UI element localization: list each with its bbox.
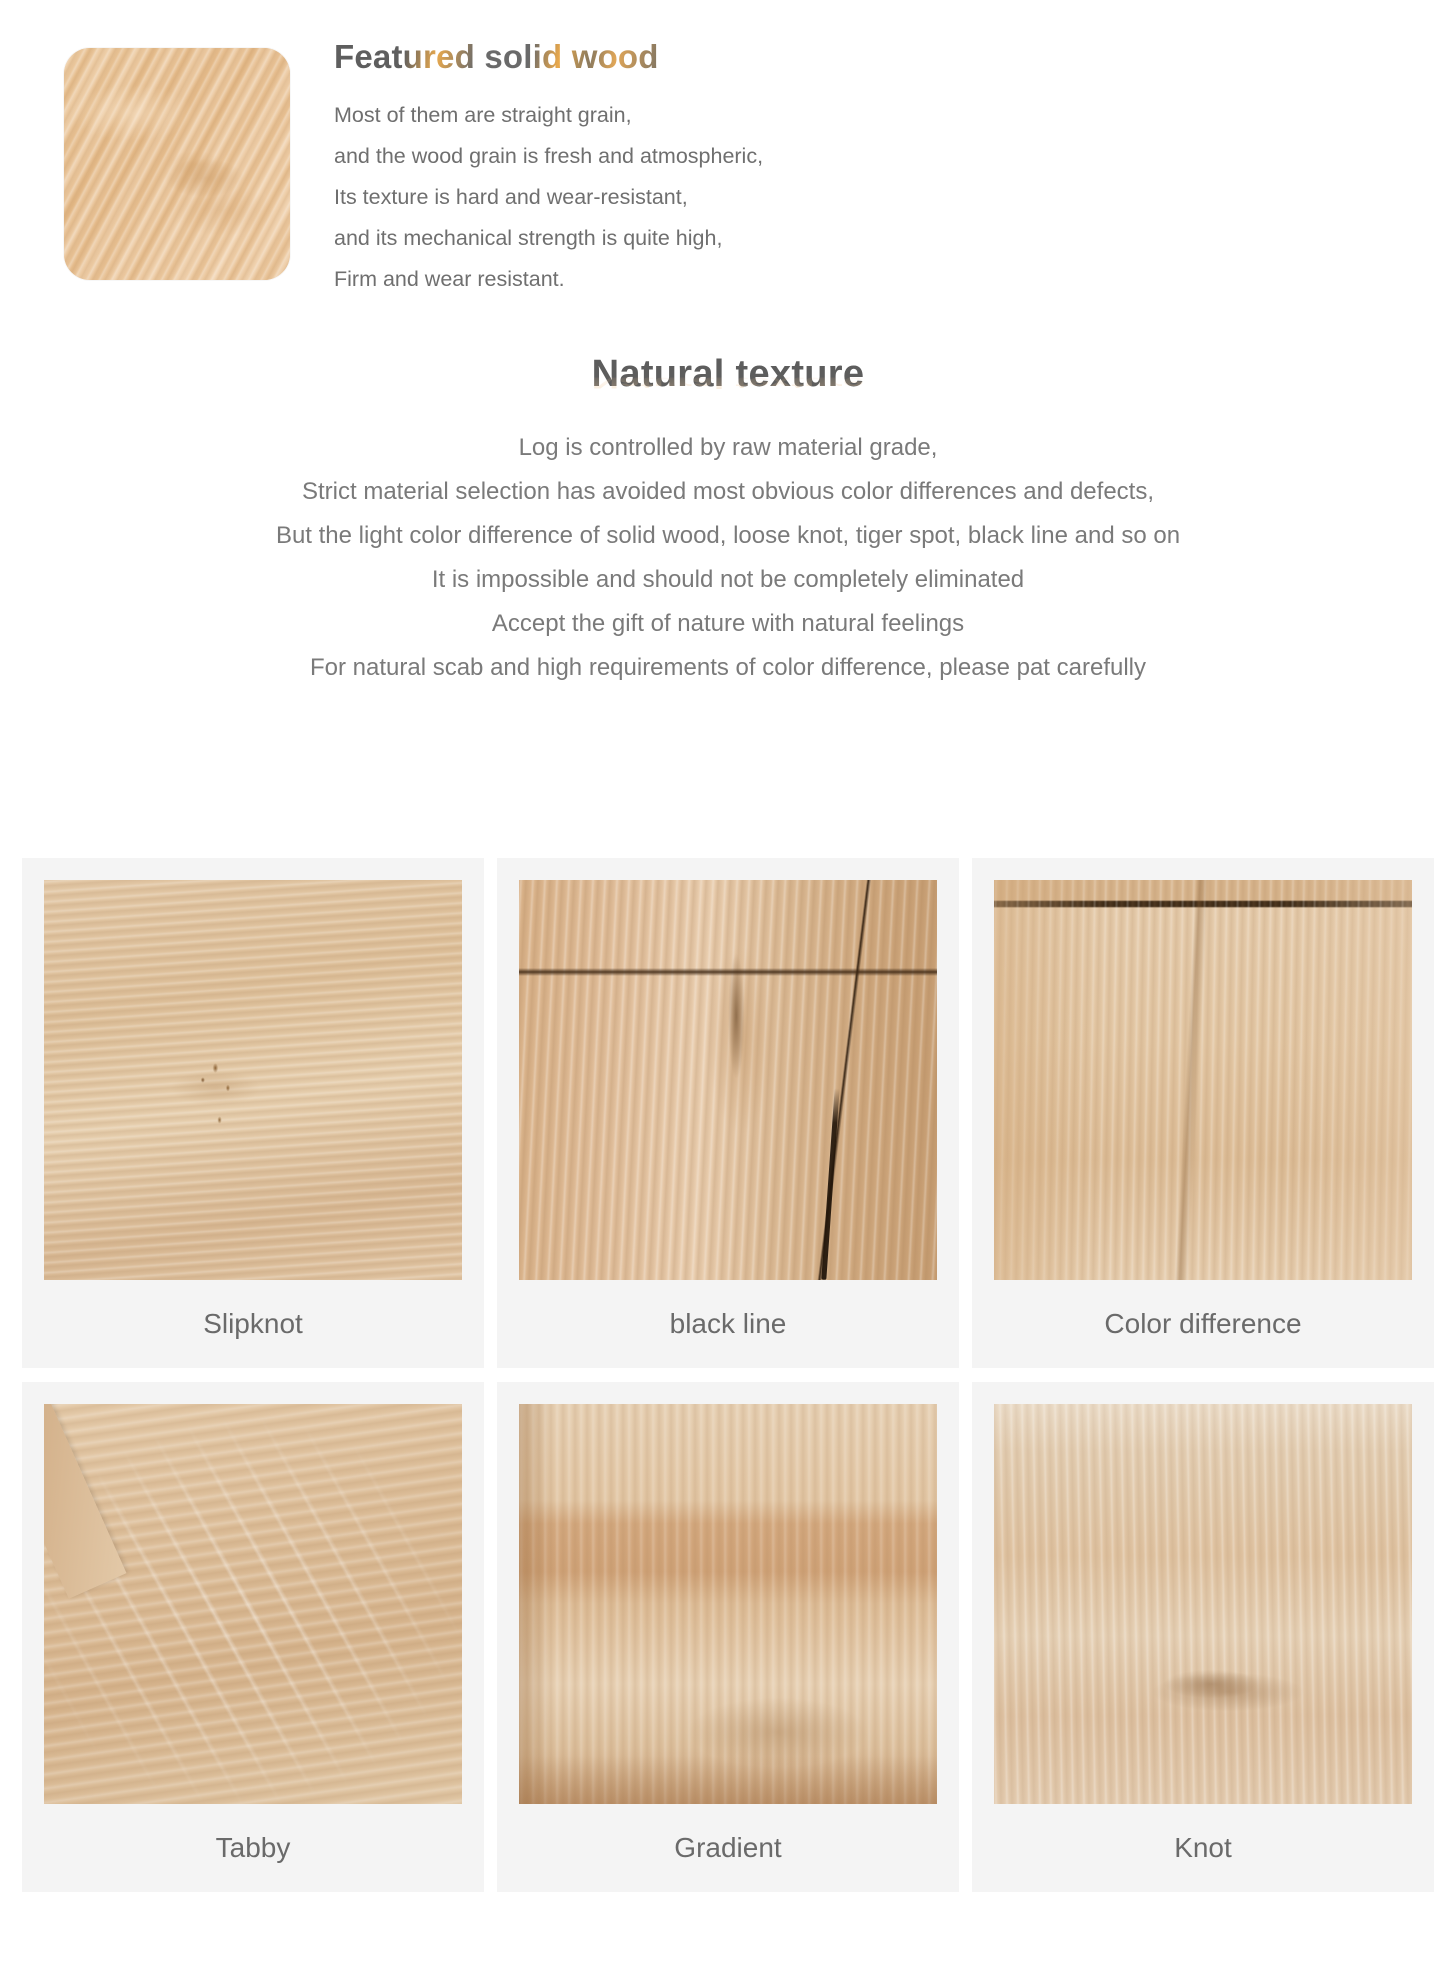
gallery-card[interactable]: Knot <box>972 1382 1434 1892</box>
gallery-card-caption: Gradient <box>519 1804 937 1892</box>
gallery-card[interactable]: Tabby <box>22 1382 484 1892</box>
featured-solid-wood-section: Featured solid wood Most of them are str… <box>0 0 1456 330</box>
gallery-card[interactable]: Slipknot <box>22 858 484 1368</box>
wood-defect-marks <box>44 880 462 1280</box>
wood-defect-marks <box>994 880 1412 1280</box>
wood-swatch-figure <box>64 48 290 280</box>
natural-line: Accept the gift of nature with natural f… <box>0 602 1456 646</box>
wood-swatch-icon <box>64 48 290 280</box>
intro-line: and its mechanical strength is quite hig… <box>334 218 1394 259</box>
intro-line: Most of them are straight grain, <box>334 95 1394 136</box>
natural-texture-section: Natural texture Natural texture Log is c… <box>0 352 1456 690</box>
gallery-card[interactable]: Color difference <box>972 858 1434 1368</box>
intro-line: Its texture is hard and wear-resistant, <box>334 177 1394 218</box>
gallery-card-caption: Tabby <box>44 1804 462 1892</box>
gallery-card[interactable]: Gradient <box>497 1382 959 1892</box>
page-title: Featured solid wood <box>334 36 659 77</box>
natural-texture-heading: Natural texture <box>592 352 865 398</box>
intro-line: and the wood grain is fresh and atmosphe… <box>334 136 1394 177</box>
wood-defect-marks <box>994 1404 1412 1804</box>
intro-description: Most of them are straight grain, and the… <box>334 95 1394 300</box>
wood-black-line-photo <box>519 880 937 1280</box>
gallery-card-caption: black line <box>519 1280 937 1368</box>
intro-text-block: Featured solid wood Most of them are str… <box>334 36 1394 300</box>
natural-line: It is impossible and should not be compl… <box>0 558 1456 602</box>
natural-line: For natural scab and high requirements o… <box>0 646 1456 690</box>
gallery-card-caption: Slipknot <box>44 1280 462 1368</box>
wood-slipknot-photo <box>44 880 462 1280</box>
wood-defect-marks <box>519 880 937 1280</box>
wood-defect-marks <box>519 1404 937 1804</box>
gallery-card-caption: Knot <box>994 1804 1412 1892</box>
natural-texture-description: Log is controlled by raw material grade,… <box>0 426 1456 690</box>
gallery-card-caption: Color difference <box>994 1280 1412 1368</box>
natural-line: Strict material selection has avoided mo… <box>0 470 1456 514</box>
gallery-card[interactable]: black line <box>497 858 959 1368</box>
natural-line: But the light color difference of solid … <box>0 514 1456 558</box>
texture-gallery-grid: Slipknot black line Color difference Tab… <box>22 858 1434 1892</box>
wood-defect-marks <box>44 1404 462 1804</box>
natural-line: Log is controlled by raw material grade, <box>0 426 1456 470</box>
wood-color-difference-photo <box>994 880 1412 1280</box>
natural-texture-heading-wrap: Natural texture Natural texture <box>592 352 865 402</box>
wood-gradient-photo <box>519 1404 937 1804</box>
intro-line: Firm and wear resistant. <box>334 259 1394 300</box>
wood-tabby-photo <box>44 1404 462 1804</box>
wood-knot-photo <box>994 1404 1412 1804</box>
